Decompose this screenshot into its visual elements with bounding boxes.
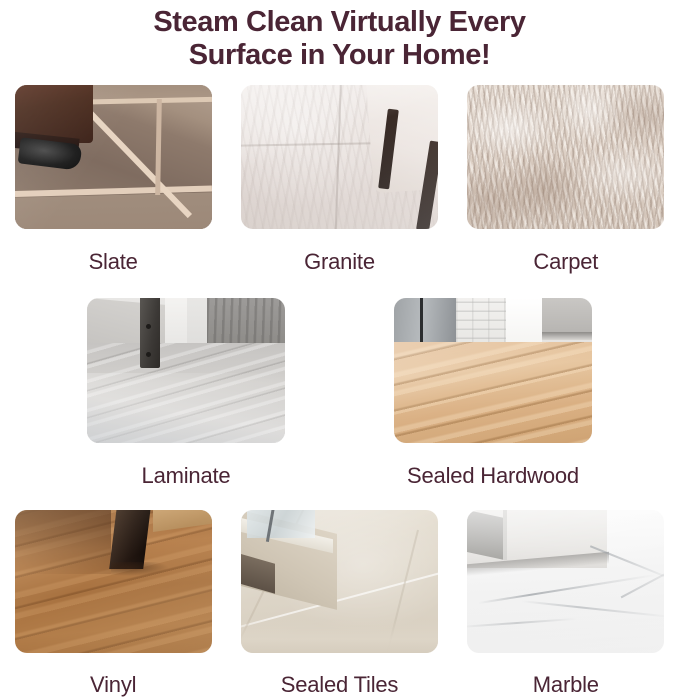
hardwood-appliance-seam (420, 298, 423, 348)
surface-label-marble: Marble (533, 672, 599, 698)
surface-label-carpet: Carpet (533, 249, 598, 275)
laminate-floor-gloss (87, 373, 285, 443)
laminate-photo (87, 298, 285, 443)
surface-card-vinyl: Vinyl (0, 510, 226, 698)
hardwood-white-brick-wall (456, 298, 506, 348)
sealed-hardwood-photo (394, 298, 592, 443)
surface-card-granite: Granite (226, 85, 452, 275)
carpet-pile-tufts (467, 85, 664, 229)
surface-label-granite: Granite (304, 249, 375, 275)
surface-label-sealed-hardwood: Sealed Hardwood (407, 463, 579, 489)
vinyl-photo (15, 510, 212, 653)
page-title-line-1: Steam Clean Virtually Every (0, 6, 679, 39)
surface-label-vinyl: Vinyl (90, 672, 136, 698)
page-title-line-2: Surface in Your Home! (0, 39, 679, 72)
laminate-metal-leg (140, 298, 160, 368)
vinyl-floor-sheen (15, 510, 212, 653)
page-title: Steam Clean Virtually Every Surface in Y… (0, 0, 679, 72)
marble-photo (467, 510, 664, 653)
surface-card-sealed-tiles: Sealed Tiles (226, 510, 452, 698)
surface-label-laminate: Laminate (142, 463, 231, 489)
hardwood-cabinet-shadow (542, 332, 592, 340)
surface-row-2: Laminate Sealed Hardwood (0, 298, 679, 489)
hardwood-doorway (506, 298, 542, 342)
surface-card-carpet: Carpet (453, 85, 679, 275)
hardwood-appliance (394, 298, 456, 348)
hardwood-floor-gloss (394, 342, 592, 443)
tiles-shower-glass (247, 510, 315, 538)
granite-gloss-overlay (241, 85, 438, 229)
slate-highlight-overlay (15, 85, 212, 229)
surface-row-3: Vinyl Sealed Tiles (0, 510, 679, 698)
surface-card-slate: Slate (0, 85, 226, 275)
laminate-screw-upper (146, 324, 151, 329)
surface-card-marble: Marble (453, 510, 679, 698)
surface-card-sealed-hardwood: Sealed Hardwood (340, 298, 647, 489)
carpet-photo (467, 85, 664, 229)
tiles-foreground-shade (241, 619, 438, 653)
surface-card-laminate: Laminate (33, 298, 340, 489)
laminate-screw-lower (146, 352, 151, 357)
surface-label-sealed-tiles: Sealed Tiles (281, 672, 398, 698)
slate-photo (15, 85, 212, 229)
surface-label-slate: Slate (89, 249, 138, 275)
hardwood-cabinet (542, 298, 592, 336)
sealed-tiles-photo (241, 510, 438, 653)
granite-photo (241, 85, 438, 229)
marble-gloss-overlay (467, 510, 664, 653)
surface-row-1: Slate Granite Carpet (0, 85, 679, 275)
